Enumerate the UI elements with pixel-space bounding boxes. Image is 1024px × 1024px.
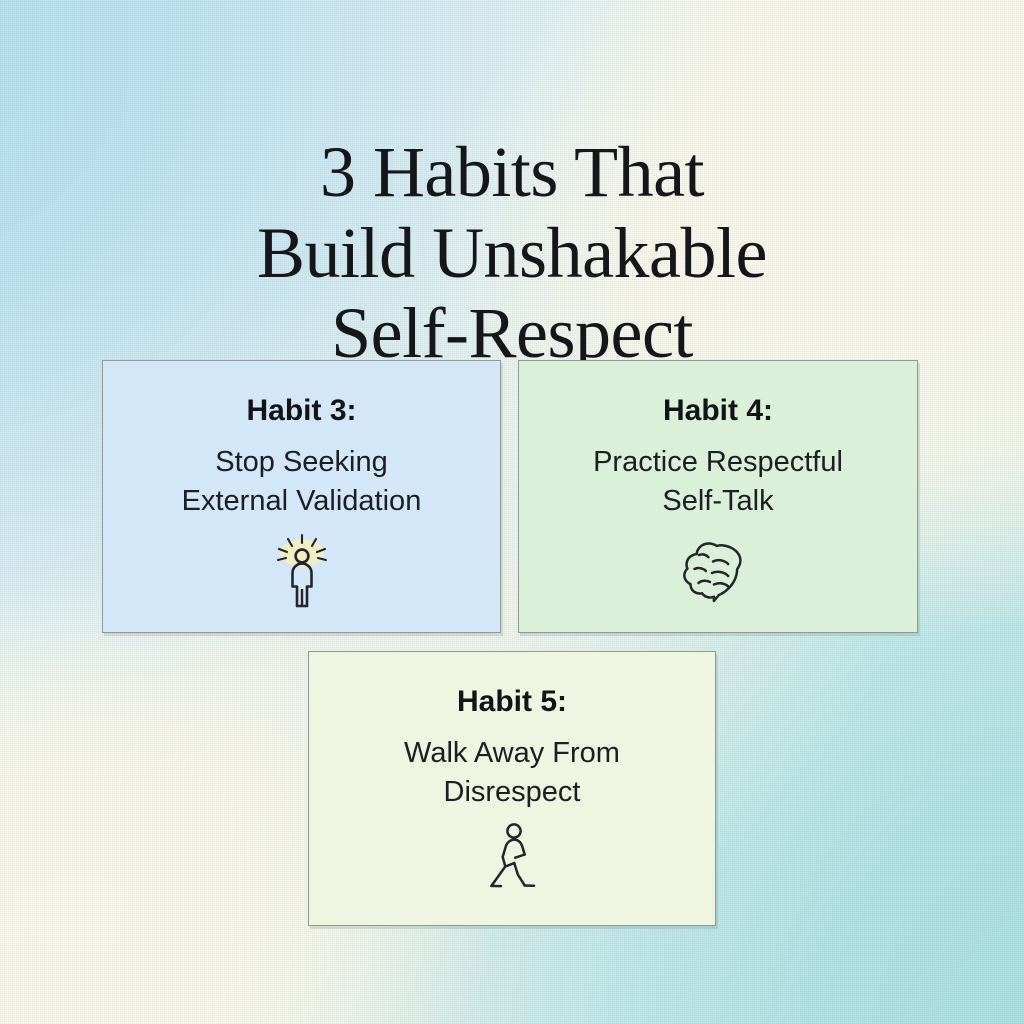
title-line-1: 3 Habits That	[0, 132, 1024, 213]
brain-icon	[681, 539, 755, 614]
habit-card-5-title: Habit 5:	[457, 685, 567, 718]
habit-card-4-body-line-1: Practice Respectful	[593, 443, 843, 482]
poster-canvas: 3 Habits That Build Unshakable Self-Resp…	[0, 0, 1024, 1024]
walking-person-icon	[481, 822, 543, 897]
habit-card-5-body: Walk Away From Disrespect	[388, 734, 636, 811]
habit-card-5-body-line-1: Walk Away From	[404, 734, 620, 773]
habit-card-4[interactable]: Habit 4: Practice Respectful Self-Talk	[518, 360, 918, 633]
habit-card-3-title: Habit 3:	[246, 394, 356, 427]
habit-card-4-body-line-2: Self-Talk	[593, 482, 843, 521]
habit-card-5-body-line-2: Disrespect	[404, 773, 620, 812]
habit-card-4-body: Practice Respectful Self-Talk	[577, 443, 859, 520]
title-line-2: Build Unshakable	[0, 213, 1024, 294]
habit-card-3-body: Stop Seeking External Validation	[166, 443, 438, 520]
page-title: 3 Habits That Build Unshakable Self-Resp…	[0, 132, 1024, 374]
habit-card-3[interactable]: Habit 3: Stop Seeking External Validatio…	[102, 360, 501, 633]
habit-card-5[interactable]: Habit 5: Walk Away From Disrespect	[308, 651, 716, 926]
shining-person-icon	[266, 533, 338, 614]
habit-card-4-title: Habit 4:	[663, 394, 773, 427]
habit-card-3-body-line-2: External Validation	[182, 482, 422, 521]
habit-card-3-body-line-1: Stop Seeking	[182, 443, 422, 482]
